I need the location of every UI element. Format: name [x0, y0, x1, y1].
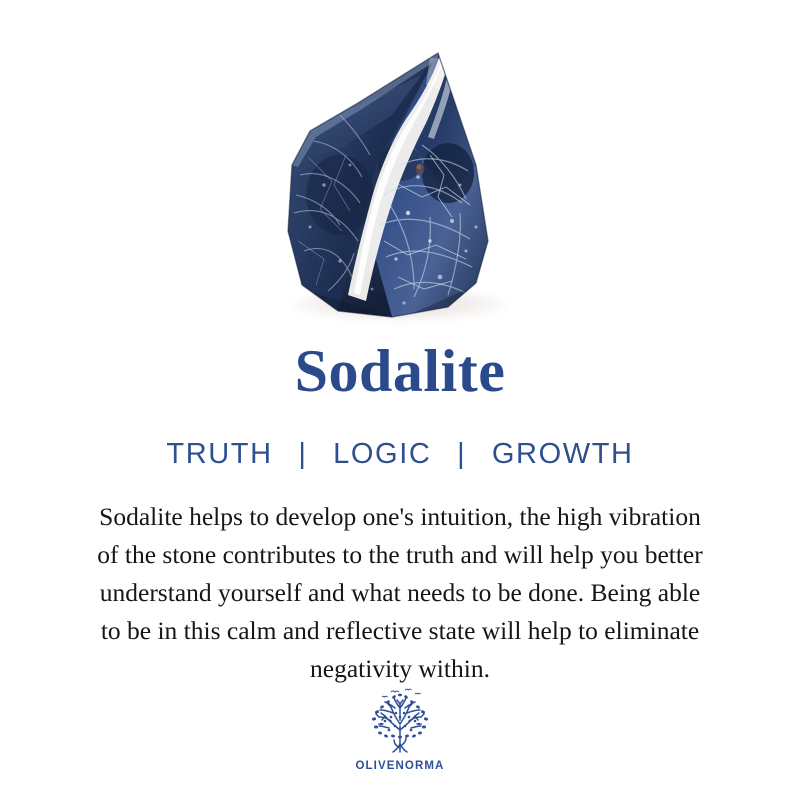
description-text: Sodalite helps to develop one's intuitio…: [28, 498, 772, 688]
description-line-5: negativity within.: [28, 650, 772, 688]
keyword-separator-1: |: [282, 438, 323, 471]
keyword-list: TRUTH | LOGIC | GROWTH: [0, 438, 800, 471]
brand-name: OLIVENORMA: [0, 760, 800, 772]
description-line-1: Sodalite helps to develop one's intuitio…: [28, 498, 772, 536]
tree-of-life-icon: [361, 686, 439, 758]
keyword-truth: TRUTH: [166, 438, 272, 471]
sodalite-crystal-image: [280, 45, 505, 320]
product-info-card: Sodalite TRUTH | LOGIC | GROWTH Sodalite…: [0, 0, 800, 800]
keyword-separator-2: |: [441, 438, 482, 471]
keyword-growth: GROWTH: [492, 438, 634, 471]
brand-logo: OLIVENORMA: [0, 686, 800, 772]
description-line-4: to be in this calm and reflective state …: [28, 612, 772, 650]
description-line-3: understand yourself and what needs to be…: [28, 574, 772, 612]
keyword-logic: LOGIC: [333, 438, 431, 471]
specimen-image-area: [0, 0, 800, 335]
description-line-2: of the stone contributes to the truth an…: [28, 536, 772, 574]
page-title: Sodalite: [0, 340, 800, 403]
